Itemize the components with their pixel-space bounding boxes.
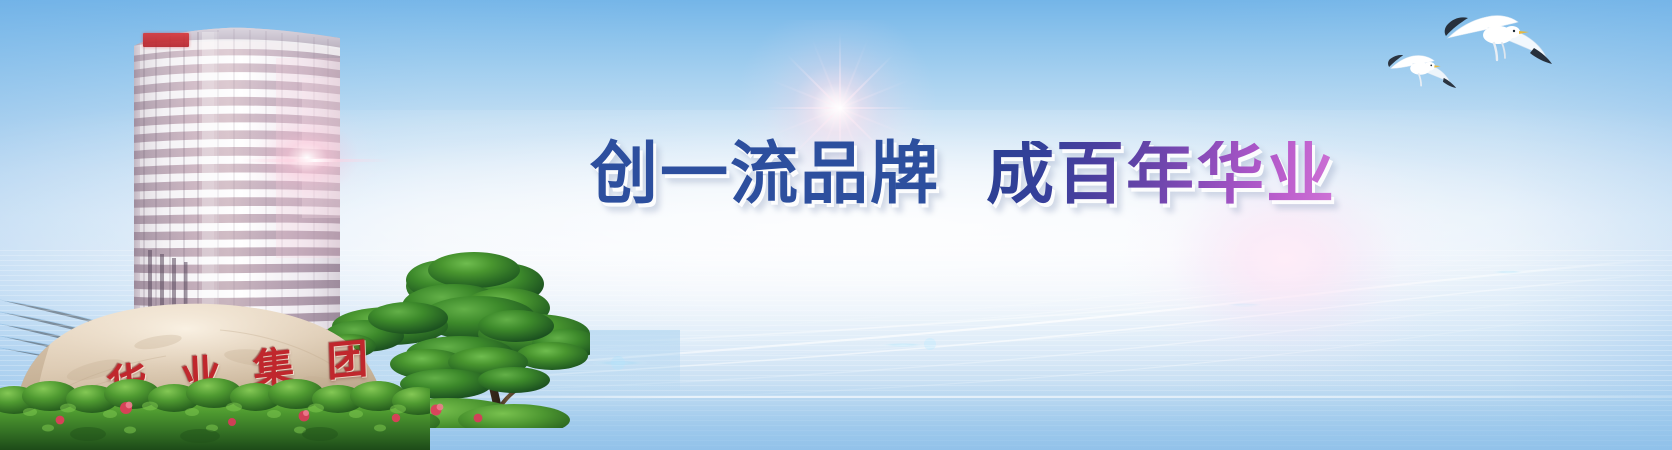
seagull-icon: [1388, 55, 1456, 88]
hero-banner: 华 业 集 团: [0, 0, 1672, 450]
building-rooftop-sign: [143, 33, 189, 47]
seagulls-group: [1370, 4, 1560, 114]
seagull-icon: [1445, 16, 1552, 64]
headline-phrase-2: 成百年华业: [986, 141, 1336, 209]
headline-phrase-1: 创一流品牌: [590, 141, 940, 209]
banner-headline: 创一流品牌 成百年华业: [590, 136, 1336, 214]
hedge-shrubs: [0, 372, 430, 450]
